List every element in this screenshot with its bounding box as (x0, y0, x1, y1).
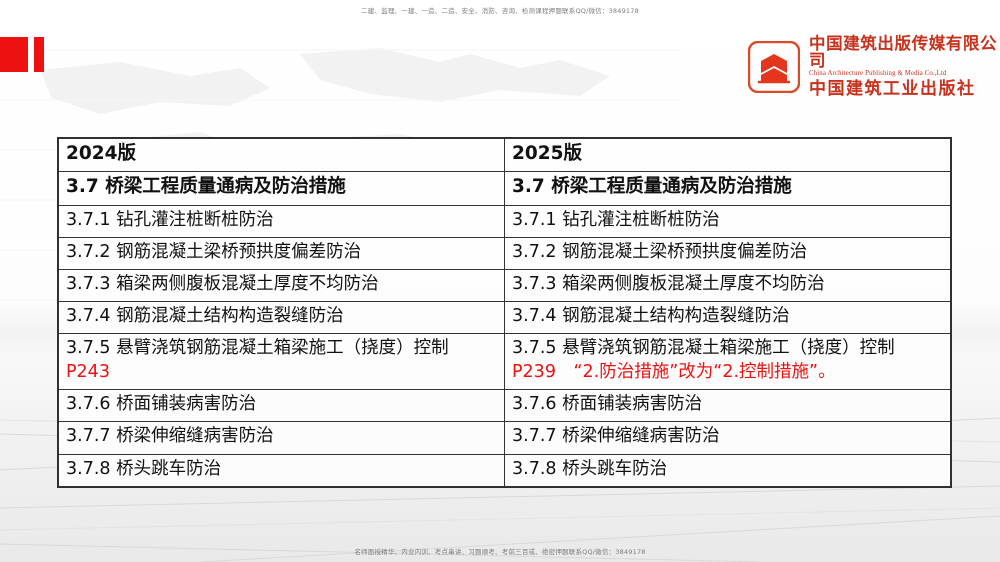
slide-canvas: 二建、监理、一建、一造、二造、安全、消防、咨询、检测课程押题联系QQ/微信：38… (0, 0, 1000, 562)
cell-right-376: 3.7.6 桥面铺装病害防治 (505, 390, 951, 422)
cell-right-372: 3.7.2 钢筋混凝土梁桥预拱度偏差防治 (505, 237, 951, 269)
cell-left-378: 3.7.8 桥头跳车防治 (59, 454, 505, 486)
cell-left-374: 3.7.4 钢筋混凝土结构构造裂缝防治 (59, 302, 505, 334)
logo-company-cn: 中国建筑出版传媒有限公司 (809, 36, 1000, 69)
column-header-2025: 2025版 (505, 139, 951, 172)
cell-left-375: 3.7.5 悬臂浇筑钢筋混凝土箱梁施工（挠度）控制 P243 (59, 334, 505, 390)
cell-left-373: 3.7.3 箱梁两侧腹板混凝土厚度不均防治 (59, 270, 505, 302)
table-row-highlight: 3.7.5 悬臂浇筑钢筋混凝土箱梁施工（挠度）控制 P243 3.7.5 悬臂浇… (59, 334, 951, 390)
table-body: 2024版 2025版 3.7 桥梁工程质量通病及防治措施 3.7 桥梁工程质量… (59, 139, 951, 487)
table-row: 3.7.6 桥面铺装病害防治 3.7.6 桥面铺装病害防治 (59, 390, 951, 422)
cell-right-section: 3.7 桥梁工程质量通病及防治措施 (505, 172, 951, 205)
table-row: 3.7.1 钻孔灌注桩断桩防治 3.7.1 钻孔灌注桩断桩防治 (59, 205, 951, 237)
table-row: 3.7.7 桥梁伸缩缝病害防治 3.7.7 桥梁伸缩缝病害防治 (59, 422, 951, 454)
table-row: 3.7.3 箱梁两侧腹板混凝土厚度不均防治 3.7.3 箱梁两侧腹板混凝土厚度不… (59, 270, 951, 302)
logo-press-cn: 中国建筑工业出版社 (809, 81, 1000, 98)
cell-left-375-page-note: P243 (66, 361, 497, 384)
logo-company-en: China Architecture Publishing & Media Co… (809, 71, 1000, 78)
red-accent-bar (34, 37, 44, 72)
bottom-banner-text: 名师面授精华、内业内训、考点串讲、习题顺考、考前三百或、绝密押题联系QQ/微信：… (0, 548, 1000, 557)
cell-left-377: 3.7.7 桥梁伸缩缝病害防治 (59, 422, 505, 454)
open-book-icon (748, 41, 800, 93)
cell-right-371: 3.7.1 钻孔灌注桩断桩防治 (505, 205, 951, 237)
cell-right-375-change-note: P239 “2.防治措施”改为“2.控制措施”。 (512, 361, 943, 384)
top-banner-text: 二建、监理、一建、一造、二造、安全、消防、咨询、检测课程押题联系QQ/微信：38… (0, 7, 1000, 16)
table-row: 3.7.2 钢筋混凝土梁桥预拱度偏差防治 3.7.2 钢筋混凝土梁桥预拱度偏差防… (59, 237, 951, 269)
cell-right-378: 3.7.8 桥头跳车防治 (505, 454, 951, 486)
table-header-row: 2024版 2025版 (59, 139, 951, 172)
cell-left-372: 3.7.2 钢筋混凝土梁桥预拱度偏差防治 (59, 237, 505, 269)
publisher-logo: 中国建筑出版传媒有限公司 China Architecture Publishi… (748, 36, 1000, 98)
red-accent-block (0, 37, 28, 72)
version-comparison-table: 2024版 2025版 3.7 桥梁工程质量通病及防治措施 3.7 桥梁工程质量… (58, 138, 951, 487)
cell-right-375-text: 3.7.5 悬臂浇筑钢筋混凝土箱梁施工（挠度）控制 (512, 338, 895, 358)
table-row: 3.7.8 桥头跳车防治 3.7.8 桥头跳车防治 (59, 454, 951, 486)
cell-left-section: 3.7 桥梁工程质量通病及防治措施 (59, 172, 505, 205)
table-row: 3.7 桥梁工程质量通病及防治措施 3.7 桥梁工程质量通病及防治措施 (59, 172, 951, 205)
table-row: 3.7.4 钢筋混凝土结构构造裂缝防治 3.7.4 钢筋混凝土结构构造裂缝防治 (59, 302, 951, 334)
cell-left-371: 3.7.1 钻孔灌注桩断桩防治 (59, 205, 505, 237)
column-header-2024: 2024版 (59, 139, 505, 172)
cell-left-375-text: 3.7.5 悬臂浇筑钢筋混凝土箱梁施工（挠度）控制 (66, 338, 449, 358)
cell-right-373: 3.7.3 箱梁两侧腹板混凝土厚度不均防治 (505, 270, 951, 302)
cell-right-377: 3.7.7 桥梁伸缩缝病害防治 (505, 422, 951, 454)
cell-left-376: 3.7.6 桥面铺装病害防治 (59, 390, 505, 422)
cell-right-374: 3.7.4 钢筋混凝土结构构造裂缝防治 (505, 302, 951, 334)
cell-right-375: 3.7.5 悬臂浇筑钢筋混凝土箱梁施工（挠度）控制 P239 “2.防治措施”改… (505, 334, 951, 390)
